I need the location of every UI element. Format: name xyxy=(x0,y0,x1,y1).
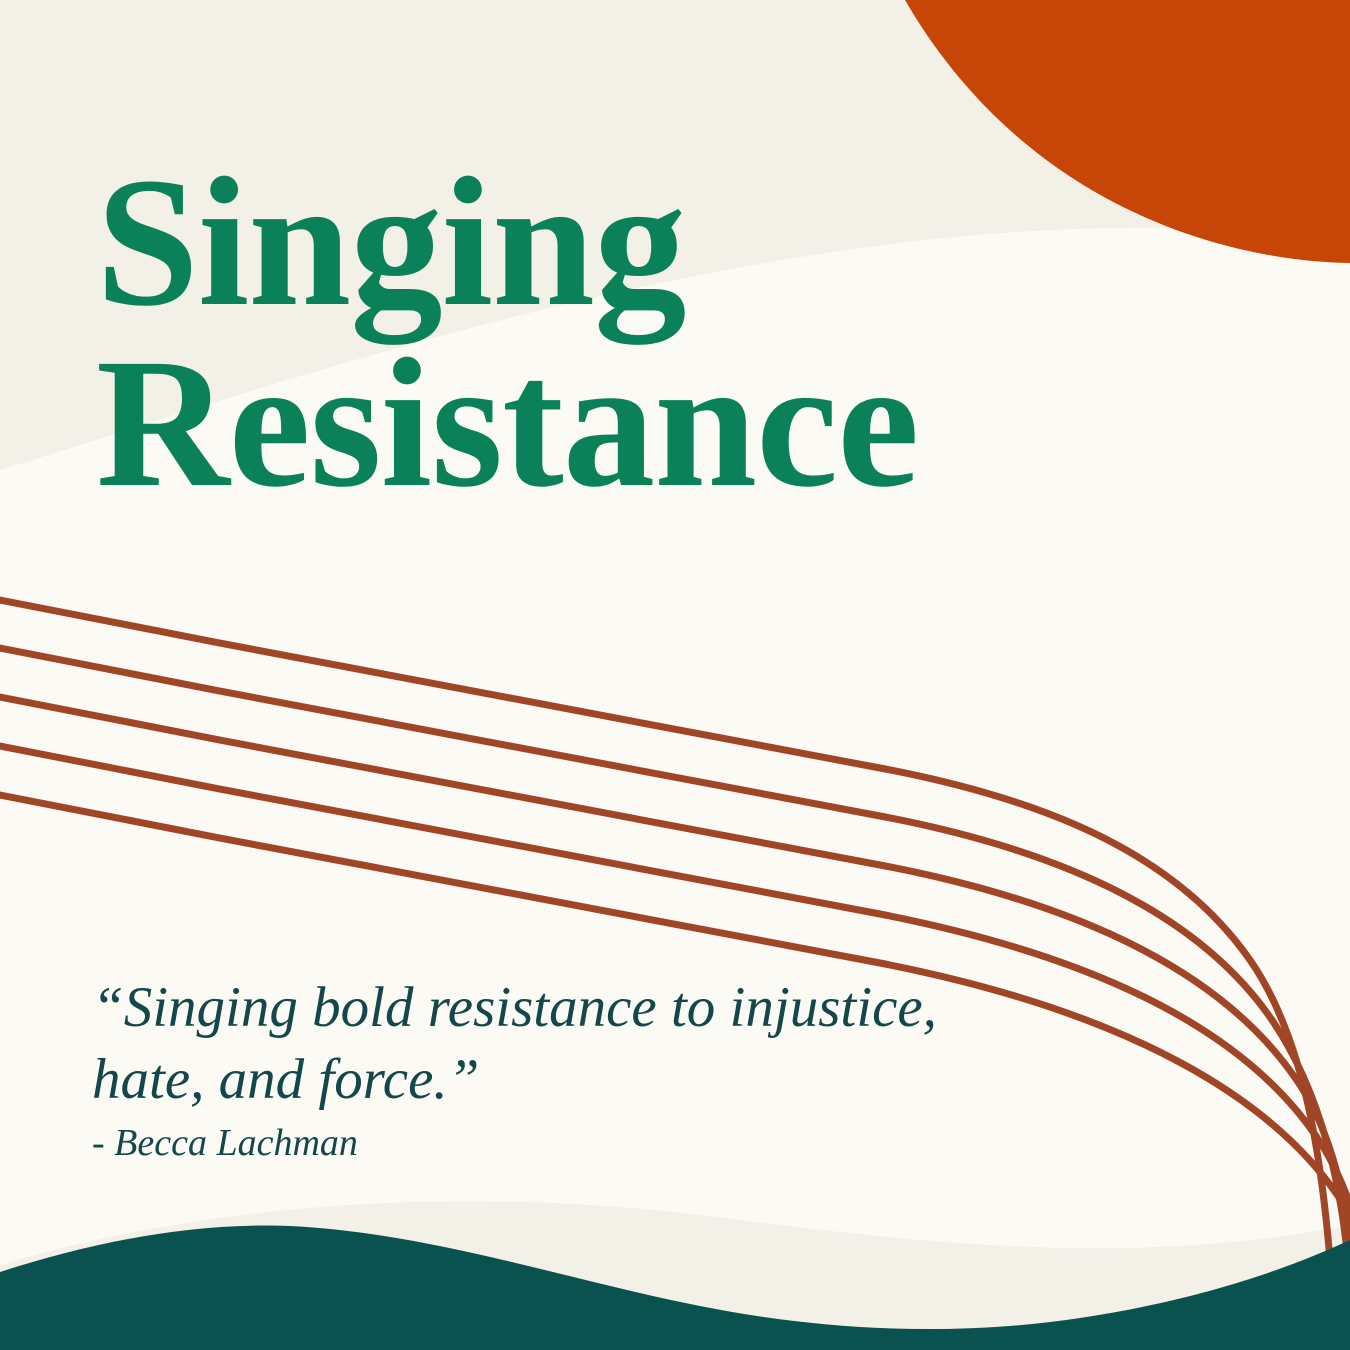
quote-line-1: “Singing bold resistance to injustice, xyxy=(92,972,1072,1044)
page-title: Singing Resistance xyxy=(96,152,1156,515)
title-line-2: Resistance xyxy=(96,333,1156,514)
text-content-layer: Singing Resistance “Singing bold resista… xyxy=(0,0,1350,1350)
poster-canvas: Singing Resistance “Singing bold resista… xyxy=(0,0,1350,1350)
quote-attribution: - Becca Lachman xyxy=(92,1120,1072,1168)
quote-line-2: hate, and force.” xyxy=(92,1044,1072,1116)
title-line-1: Singing xyxy=(96,152,1156,333)
quote-block: “Singing bold resistance to injustice, h… xyxy=(92,972,1072,1167)
